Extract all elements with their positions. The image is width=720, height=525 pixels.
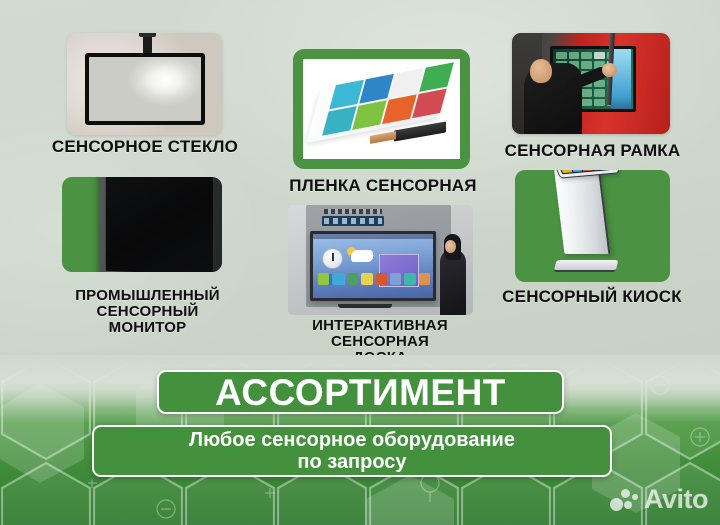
touch-film-photo (303, 59, 460, 159)
touch-glass-image (67, 33, 222, 135)
kiosk-display-tiles (553, 170, 614, 174)
touch-film-image (293, 49, 470, 169)
avito-wordmark: Avito (644, 484, 708, 515)
tile-swatch (404, 273, 415, 285)
ribbon-cable-icon (143, 33, 152, 54)
grid-cell (581, 61, 592, 68)
interactive-board-image (288, 205, 473, 315)
product-card-touch-kiosk[interactable] (515, 170, 670, 282)
caption-touch-kiosk: СЕНСОРНЫЙ КИОСК (482, 288, 702, 306)
tile-swatch (571, 170, 583, 172)
tile-swatch (419, 273, 430, 285)
tile-swatch (376, 273, 387, 285)
tile-swatch (412, 88, 447, 118)
product-card-industrial-monitor[interactable] (62, 177, 222, 272)
display-blue-panel (611, 49, 631, 109)
ceiling-strip (324, 209, 382, 214)
grid-cell (594, 99, 605, 106)
glass-bezel (85, 53, 205, 125)
kiosk-base (554, 260, 619, 272)
display-top-bar (313, 234, 433, 239)
assortment-banner: АССОРТИМЕНТ (157, 370, 564, 414)
tile-swatch (361, 273, 372, 285)
presenter-face (445, 240, 456, 253)
assortment-banner-text: АССОРТИМЕНТ (215, 374, 506, 411)
tile-swatch (390, 273, 401, 285)
info-plate (322, 216, 384, 226)
avito-dots-icon (610, 487, 640, 513)
poster-canvas: СЕНСОРНОЕ СТЕКЛО ПЛЕНКА СЕНСОРНАЯ (0, 0, 720, 525)
product-card-interactive-board[interactable] (288, 205, 473, 315)
subtitle-banner-text: Любое сенсорное оборудование по запросу (189, 429, 515, 474)
tile-swatch (347, 273, 358, 285)
board-base (338, 304, 392, 308)
grid-cell (581, 52, 592, 59)
clock-widget-icon (322, 248, 343, 269)
tile-swatch (581, 170, 593, 171)
grid-cell (581, 99, 592, 106)
technician-hand (602, 63, 617, 77)
technician-head (530, 59, 552, 83)
product-card-touch-glass[interactable] (67, 33, 222, 135)
grid-cell (581, 89, 592, 96)
tile-swatch (560, 170, 572, 173)
monitor-body (100, 177, 222, 272)
subtitle-banner: Любое сенсорное оборудование по запросу (92, 425, 612, 477)
industrial-monitor-image (62, 177, 222, 272)
grid-cell (569, 52, 580, 59)
glass-surface (89, 57, 201, 121)
cloud-icon (351, 250, 375, 262)
grid-cell (556, 52, 567, 59)
touch-kiosk-image (515, 170, 670, 282)
product-card-touch-film[interactable] (293, 49, 470, 169)
board-screen (310, 231, 436, 301)
grid-cell (594, 89, 605, 96)
board-display (313, 234, 433, 298)
tile-swatch (318, 273, 329, 285)
caption-touch-film: ПЛЕНКА СЕНСОРНАЯ (258, 177, 508, 195)
tile-swatch (332, 273, 343, 285)
product-card-touch-frame[interactable] (512, 33, 670, 134)
board-dock-tiles (318, 273, 430, 285)
kiosk-column (554, 170, 611, 254)
film-connector-icon (394, 121, 446, 141)
avito-watermark: Avito (610, 484, 708, 515)
kiosk-stand (553, 170, 619, 274)
caption-touch-glass: СЕНСОРНОЕ СТЕКЛО (30, 138, 260, 156)
tile-swatch (419, 62, 454, 92)
caption-touch-frame: СЕНСОРНАЯ РАМКА (485, 142, 700, 160)
caption-industrial-monitor: ПРОМЫШЛЕННЫЙ СЕНСОРНЫЙ МОНИТОР (45, 288, 250, 337)
touch-frame-image (512, 33, 670, 134)
grid-cell (594, 52, 605, 59)
monitor-screen (106, 177, 213, 272)
